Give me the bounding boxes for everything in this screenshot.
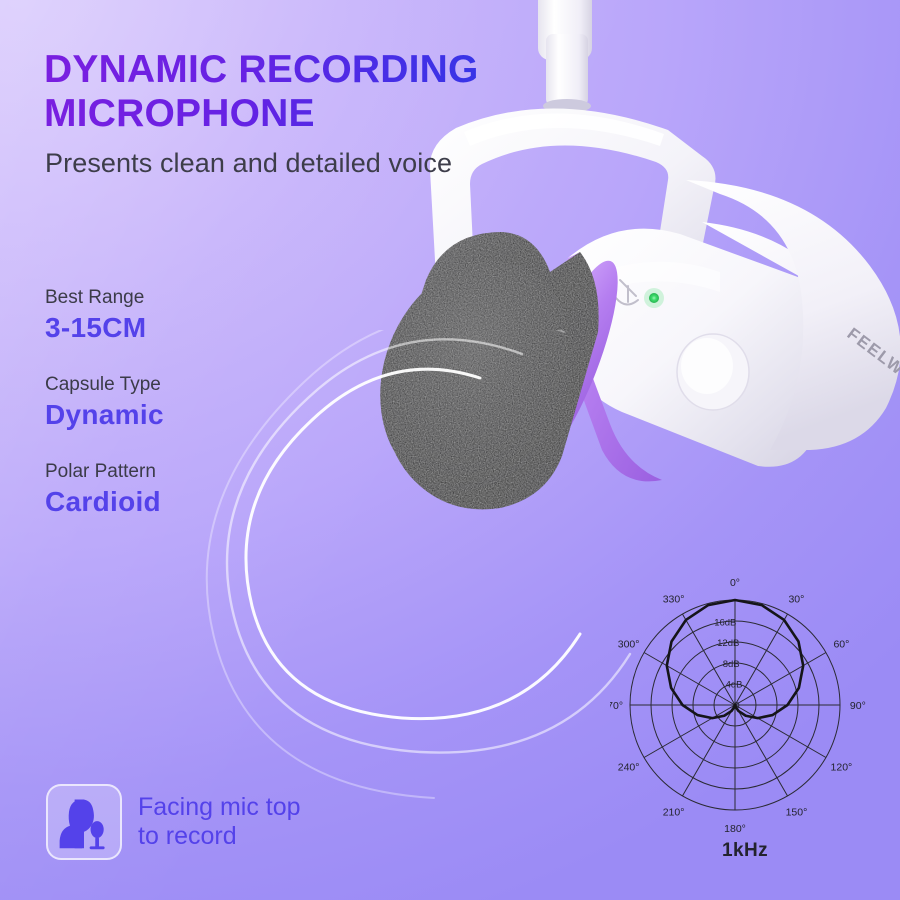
svg-text:30°: 30° <box>788 594 804 606</box>
spec-value: 3-15CM <box>45 310 305 346</box>
spec-item-best-range: Best Range 3-15CM <box>45 286 305 346</box>
product-infographic: FEELW◉RLD <box>0 0 900 900</box>
usage-callout-line2: to record <box>138 822 301 852</box>
usage-callout: Facing mic top to record <box>46 784 301 860</box>
svg-text:8dB: 8dB <box>723 659 740 670</box>
spec-list: Best Range 3-15CM Capsule Type Dynamic P… <box>45 286 305 547</box>
page-subtitle: Presents clean and detailed voice <box>45 148 605 179</box>
spec-label: Polar Pattern <box>45 460 305 484</box>
svg-text:0°: 0° <box>730 577 740 589</box>
polar-pattern-chart: 04dB8dB12dB16dB 0°30°60°90°120°150°180°2… <box>610 565 880 855</box>
svg-text:240°: 240° <box>618 761 640 773</box>
svg-text:150°: 150° <box>786 806 808 818</box>
spec-label: Capsule Type <box>45 373 305 397</box>
svg-text:270°: 270° <box>610 700 623 712</box>
spec-label: Best Range <box>45 286 305 310</box>
spec-item-polar-pattern: Polar Pattern Cardioid <box>45 460 305 520</box>
svg-text:180°: 180° <box>724 823 746 835</box>
person-facing-mic-icon <box>46 784 122 860</box>
svg-text:12dB: 12dB <box>717 638 739 649</box>
svg-text:120°: 120° <box>831 761 853 773</box>
svg-text:210°: 210° <box>663 806 685 818</box>
svg-text:4dB: 4dB <box>726 680 743 691</box>
spec-item-capsule-type: Capsule Type Dynamic <box>45 373 305 433</box>
svg-text:60°: 60° <box>833 639 849 651</box>
svg-text:330°: 330° <box>663 594 685 606</box>
polar-chart-caption: 1kHz <box>610 840 880 862</box>
usage-callout-line1: Facing mic top <box>138 793 301 823</box>
svg-text:300°: 300° <box>618 639 640 651</box>
svg-text:16dB: 16dB <box>714 617 736 628</box>
svg-text:90°: 90° <box>850 700 866 712</box>
spec-value: Cardioid <box>45 484 305 520</box>
page-title: DYNAMIC RECORDING MICROPHONE <box>44 48 564 135</box>
usage-callout-text: Facing mic top to record <box>138 793 301 852</box>
spec-value: Dynamic <box>45 397 305 433</box>
